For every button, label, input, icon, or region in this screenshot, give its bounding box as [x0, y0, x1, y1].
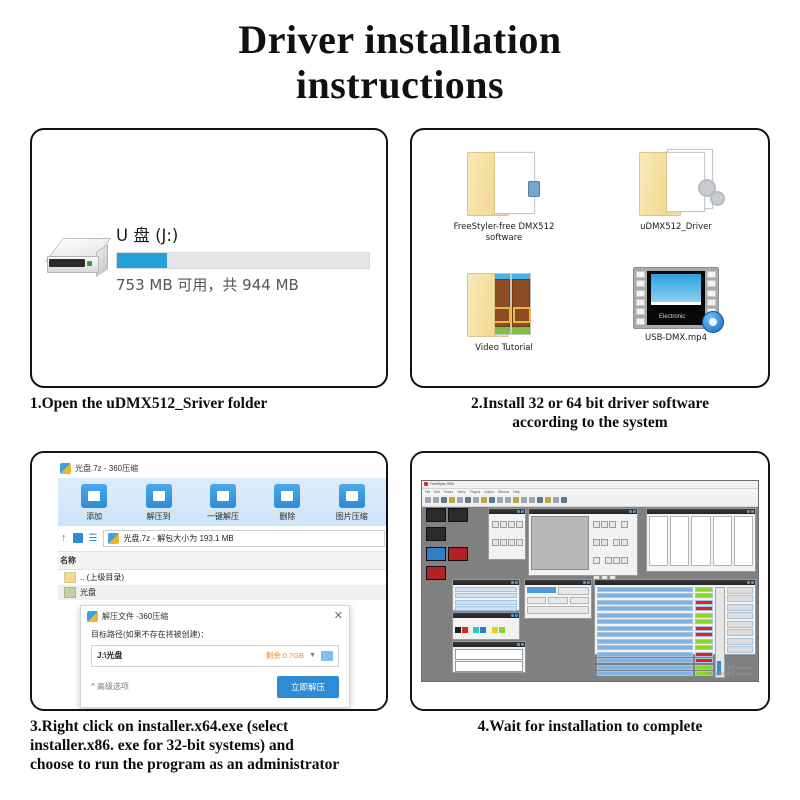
window-gobo-keypad[interactable]	[452, 641, 526, 673]
column-header-name: 名称	[58, 552, 388, 570]
chevron-down-icon[interactable]: ▼	[309, 652, 316, 659]
window-dmx-channel-table[interactable]	[594, 579, 756, 655]
watermark-line-2: 转到设置以激活 Windows	[707, 671, 752, 676]
drive-name: U 盘 (J:)	[116, 222, 370, 246]
step-4-caption: 4.Wait for installation to complete	[410, 718, 770, 737]
window-color-palette[interactable]	[452, 612, 520, 640]
browse-folder-icon[interactable]	[321, 651, 333, 661]
menu-item-setup[interactable]: Setup	[457, 490, 465, 494]
toolbar-button-delete[interactable]: 删除	[260, 484, 314, 522]
one-click-extract-icon	[210, 484, 236, 508]
destination-path-label: 目标路径(如果不存在将被创建)：	[91, 629, 339, 640]
toolbar-label: 解压到	[147, 511, 171, 522]
drive-capacity-bar	[116, 252, 370, 269]
extract-dialog: 解压文件 -360压缩 ✕ 目标路径(如果不存在将被创建)： J:\光盘 剩余:…	[80, 605, 350, 708]
up-arrow-icon[interactable]: ↑	[61, 532, 67, 544]
window-movement-grid[interactable]	[528, 508, 638, 576]
row-label: 光盘	[80, 587, 96, 598]
step-1-frame: U 盘 (J:) 753 MB 可用，共 944 MB	[30, 128, 388, 388]
step-2: FreeStyler-free DMX512 software	[400, 128, 800, 433]
drive-capacity-text: 753 MB 可用，共 944 MB	[116, 274, 370, 295]
toolbar-button-one-click-extract[interactable]: 一键解压	[196, 484, 250, 522]
trash-icon	[274, 484, 300, 508]
file-label: uDMX512_Driver	[640, 222, 712, 233]
step-2-frame: FreeStyler-free DMX512 software	[410, 128, 770, 388]
file-item-udmx512-driver[interactable]: uDMX512_Driver	[590, 140, 762, 261]
file-grid: FreeStyler-free DMX512 software	[412, 130, 768, 386]
step-1-caption: 1.Open the uDMX512_Sriver folder	[30, 395, 388, 414]
page-title: Driver installation instructions	[0, 0, 800, 108]
folder-with-executables-icon	[637, 146, 715, 218]
table-row[interactable]: .. (上级目录)	[58, 570, 388, 585]
video-file-icon: Electronic	[633, 267, 719, 329]
toolbar-button-extract-to[interactable]: 解压到	[132, 484, 186, 522]
drive-capacity-bar-fill	[117, 253, 167, 268]
parent-folder-icon	[64, 572, 76, 583]
image-compress-icon	[339, 484, 365, 508]
step-3-frame: 光盘.7z - 360压缩 添加 解压到	[30, 451, 388, 711]
window-effects[interactable]	[524, 579, 592, 619]
toolbar-button-image-compress[interactable]: 图片压缩	[325, 484, 379, 522]
step-2-caption-line-2: according to the system	[512, 414, 667, 431]
extract-dialog-title-bar: 解压文件 -360压缩 ✕	[81, 606, 349, 627]
step-3-caption-line-1: 3.Right click on installer.x64.exe (sele…	[30, 718, 288, 735]
dmx-software-panel: FreeStyler DMX File Edit Fixture Setup P…	[412, 453, 768, 709]
folder-icon	[64, 587, 76, 598]
extract-dialog-title: 解压文件 -360压缩	[102, 611, 168, 622]
folder-with-document-icon	[465, 146, 543, 218]
toolbar-label: 添加	[86, 511, 102, 522]
menu-item-file[interactable]: File	[425, 490, 430, 494]
windows-activation-watermark: 激活 Windows 转到设置以激活 Windows	[707, 665, 752, 675]
page-title-line-2: instructions	[0, 63, 800, 108]
step-4-frame: FreeStyler DMX File Edit Fixture Setup P…	[410, 451, 770, 711]
list-view-icon[interactable]: ☰	[89, 533, 98, 544]
step-3-caption-line-3: choose to run the program as an administ…	[30, 756, 339, 773]
folder-extract-icon	[146, 484, 172, 508]
archiver-window-title: 光盘.7z - 360压缩	[75, 463, 138, 474]
view-toggle-icon[interactable]	[73, 533, 83, 543]
file-item-usb-dmx-mp4[interactable]: Electronic USB-DMX.mp4	[590, 261, 762, 382]
window-channel-faders[interactable]	[452, 579, 520, 611]
toolbar-label: 一键解压	[207, 511, 239, 522]
folder-add-icon	[81, 484, 107, 508]
app-logo-icon	[60, 463, 71, 474]
media-player-badge-icon	[702, 311, 724, 333]
step-1: U 盘 (J:) 753 MB 可用，共 944 MB 1.Open the u…	[0, 128, 400, 433]
fixture-thumbnails[interactable]	[426, 508, 484, 585]
app-logo-icon	[87, 611, 98, 622]
step-2-caption: 2.Install 32 or 64 bit driver software a…	[410, 395, 770, 433]
folder-with-videos-icon	[465, 267, 543, 339]
app-toolbar	[422, 495, 758, 507]
extract-dialog-body: 目标路径(如果不存在将被创建)： J:\光盘 剩余:0.7GB ▼ ^ 高级选项…	[81, 627, 349, 707]
path-text: 光盘.7z - 解包大小为 193.1 MB	[123, 533, 233, 544]
archive-file-icon	[108, 533, 119, 544]
app-title-bar: FreeStyler DMX	[422, 481, 758, 489]
step-3-caption: 3.Right click on installer.x64.exe (sele…	[30, 718, 388, 775]
advanced-options-toggle[interactable]: ^ 高级选项	[91, 681, 129, 692]
step-4: FreeStyler DMX File Edit Fixture Setup P…	[400, 451, 800, 775]
path-field[interactable]: 光盘.7z - 解包大小为 193.1 MB	[103, 530, 385, 547]
menu-item-window[interactable]: Window	[498, 490, 509, 494]
drive-info: U 盘 (J:) 753 MB 可用，共 944 MB	[116, 222, 386, 295]
destination-path-value: J:\光盘	[97, 650, 261, 661]
close-icon[interactable]: ✕	[334, 611, 343, 622]
file-label: USB-DMX.mp4	[645, 333, 707, 344]
archiver-path-bar: ↑ ☰ 光盘.7z - 解包大小为 193.1 MB	[58, 526, 388, 552]
toolbar-label: 删除	[279, 511, 295, 522]
advanced-options-label: 高级选项	[97, 682, 129, 691]
step-3-caption-line-2: installer.x86. exe for 32-bit systems) a…	[30, 737, 294, 754]
file-label: Video Tutorial	[475, 343, 533, 354]
page-title-line-1: Driver installation	[0, 18, 800, 63]
usb-external-drive-icon	[46, 236, 108, 280]
app-title-text: FreeStyler DMX	[430, 482, 454, 486]
extract-dialog-footer: ^ 高级选项 立即解压	[91, 676, 339, 698]
usb-drive-panel: U 盘 (J:) 753 MB 可用，共 944 MB	[32, 130, 386, 386]
steps-row-1: U 盘 (J:) 753 MB 可用，共 944 MB 1.Open the u…	[0, 128, 800, 433]
window-fixture-panels[interactable]	[646, 508, 756, 572]
step-2-caption-line-1: 2.Install 32 or 64 bit driver software	[471, 395, 709, 412]
menu-item-fixture[interactable]: Fixture	[444, 490, 454, 494]
extract-now-button[interactable]: 立即解压	[277, 676, 339, 698]
archiver-panel: 光盘.7z - 360压缩 添加 解压到	[32, 453, 386, 709]
toolbar-button-add[interactable]: 添加	[67, 484, 121, 522]
steps-row-2: 光盘.7z - 360压缩 添加 解压到	[0, 451, 800, 775]
menu-item-plugins[interactable]: Plugins	[470, 490, 480, 494]
window-scene-controls[interactable]	[488, 508, 526, 560]
step-3: 光盘.7z - 360压缩 添加 解压到	[0, 451, 400, 775]
free-space-text: 剩余:0.7GB	[266, 650, 304, 661]
file-item-freestyler[interactable]: FreeStyler-free DMX512 software	[418, 140, 590, 261]
file-item-video-tutorial[interactable]: Video Tutorial	[418, 261, 590, 382]
video-thumb-caption: Electronic	[659, 314, 685, 320]
steps-grid: U 盘 (J:) 753 MB 可用，共 944 MB 1.Open the u…	[0, 128, 800, 775]
row-label: .. (上级目录)	[80, 572, 124, 583]
archiver-toolbar: 添加 解压到 一键解压	[58, 478, 388, 526]
archiver-title-bar: 光盘.7z - 360压缩	[58, 461, 388, 478]
archiver-window: 光盘.7z - 360压缩 添加 解压到	[58, 461, 388, 600]
menu-item-output[interactable]: Output	[484, 490, 494, 494]
menu-item-edit[interactable]: Edit	[434, 490, 440, 494]
destination-path-input[interactable]: J:\光盘 剩余:0.7GB ▼	[91, 645, 339, 667]
file-label: FreeStyler-free DMX512 software	[444, 222, 564, 243]
menu-item-help[interactable]: Help	[513, 490, 520, 494]
dmx-application-window: FreeStyler DMX File Edit Fixture Setup P…	[421, 480, 759, 682]
toolbar-label: 图片压缩	[336, 511, 368, 522]
app-icon	[424, 482, 428, 486]
table-row[interactable]: 光盘	[58, 585, 388, 600]
